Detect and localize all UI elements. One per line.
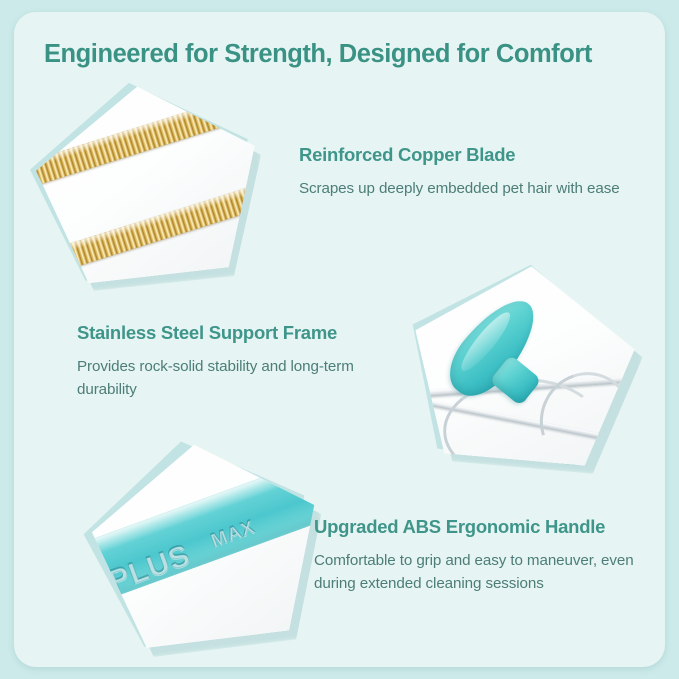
- abs-handle-photo: PLUS MAX: [94, 444, 318, 640]
- feature-heading: Stainless Steel Support Frame: [77, 322, 407, 344]
- feature-heading: Upgraded ABS Ergonomic Handle: [314, 516, 659, 538]
- feature-text-copper-blade: Reinforced Copper Blade Scrapes up deepl…: [299, 144, 644, 200]
- feature-body: Scrapes up deeply embedded pet hair with…: [299, 177, 644, 200]
- copper-blade-photo: [38, 86, 258, 276]
- feature-text-steel-frame: Stainless Steel Support Frame Provides r…: [77, 322, 407, 401]
- feature-text-abs-handle: Upgraded ABS Ergonomic Handle Comfortabl…: [314, 516, 659, 595]
- infographic-root: Engineered for Strength, Designed for Co…: [0, 0, 679, 679]
- steel-frame-photo: [413, 266, 633, 460]
- feature-body: Provides rock-solid stability and long-t…: [77, 355, 407, 401]
- page-title: Engineered for Strength, Designed for Co…: [44, 40, 644, 69]
- content-card: Engineered for Strength, Designed for Co…: [14, 12, 665, 667]
- feature-row-abs-handle: PLUS MAX Upgraded ABS Ergonomic Handle C…: [14, 436, 665, 646]
- feature-heading: Reinforced Copper Blade: [299, 144, 644, 166]
- feature-row-copper-blade: Reinforced Copper Blade Scrapes up deepl…: [14, 76, 665, 276]
- feature-row-steel-frame: Stainless Steel Support Frame Provides r…: [14, 260, 665, 460]
- feature-body: Comfortable to grip and easy to maneuver…: [314, 549, 659, 595]
